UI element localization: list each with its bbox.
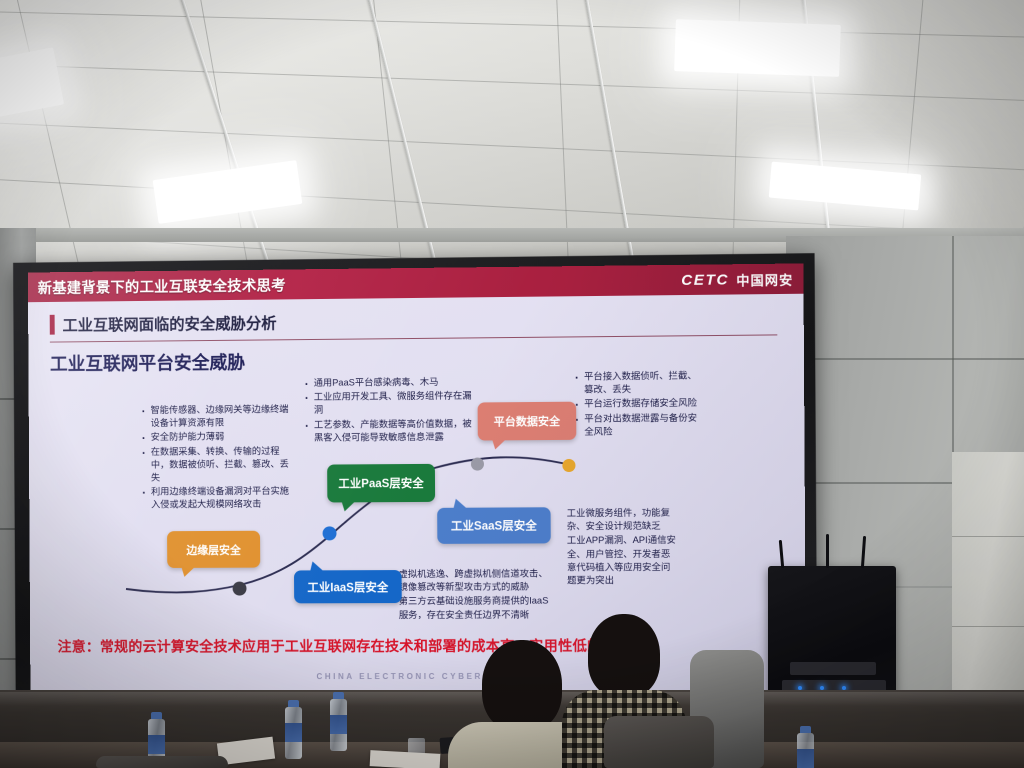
text-block-platform-data-threats: 平台接入数据侦听、拦截、篡改、丢失 平台运行数据存储安全风险 平台对出数据泄露与…: [573, 369, 703, 439]
bullet-item: 安全防护能力薄弱: [151, 430, 295, 444]
callout-label: 边缘层安全: [186, 541, 240, 557]
callout-iaas-security: 工业IaaS层安全: [294, 570, 402, 603]
bullet-item: 第三方云基础设施服务商提供的IaaS服务，存在安全责任边界不清晰: [399, 595, 552, 622]
rack-device: [790, 662, 876, 675]
text-block-iaas-threats: 虚拟机逃逸、跨虚拟机侧信道攻击、镜像篡改等新型攻击方式的威胁 第三方云基础设施服…: [388, 567, 552, 622]
callout-label: 工业PaaS层安全: [338, 475, 424, 492]
person-head: [482, 640, 562, 732]
presentation-screen: 新基建背景下的工业互联安全技术思考 CETC 中国网安 工业互联网面临的安全威胁…: [28, 263, 806, 696]
bullet-item: 平台运行数据存储安全风险: [584, 397, 702, 411]
curve-node-saas: [471, 458, 484, 471]
callout-label: 工业SaaS层安全: [451, 517, 537, 533]
bullet-item: 平台接入数据侦听、拦截、篡改、丢失: [584, 369, 702, 397]
screen-watermark: CHINA ELECTRONIC CYBER: [316, 672, 483, 681]
ceiling-light-panel: [674, 19, 841, 77]
bullet-item: 平台对出数据泄露与备份安全风险: [584, 411, 702, 438]
text-block-paas-threats: 通用PaaS平台感染病毒、木马 工业应用开发工具、微服务组件存在漏洞 工艺参数、…: [303, 375, 479, 445]
text-block-saas-threats: 工业微服务组件，功能复杂、安全设计规范缺乏 工业APP漏洞、API通信安全、用户…: [567, 507, 677, 589]
office-chair-back: [604, 716, 714, 768]
presentation-room-photo: 新基建背景下的工业互联安全技术思考 CETC 中国网安 工业互联网面临的安全威胁…: [0, 0, 1024, 768]
bullet-item: 虚拟机逃逸、跨虚拟机侧信道攻击、镜像篡改等新型攻击方式的威胁: [399, 567, 552, 594]
callout-edge-security: 边缘层安全: [167, 531, 260, 568]
office-chair-back: [96, 756, 228, 768]
bullet-item: 通用PaaS平台感染病毒、木马: [314, 375, 479, 390]
callout-paas-security: 工业PaaS层安全: [327, 464, 435, 503]
curve-node-edge: [233, 582, 247, 596]
paper-document: [370, 750, 441, 768]
bullet-item: 工业应用开发工具、微服务组件存在漏洞: [314, 390, 479, 418]
text-block-edge-threats: 智能传感器、边缘网关等边缘终端设备计算资源有限 安全防护能力薄弱 在数据采集、转…: [140, 403, 295, 513]
bullet-item: 工业微服务组件，功能复杂、安全设计规范缺乏: [567, 507, 676, 534]
water-bottle: [285, 700, 302, 759]
curve-node-iaas: [323, 526, 337, 540]
water-bottle: [797, 726, 814, 768]
bullet-item: 在数据采集、转换、传输的过程中，数据被侦听、拦截、篡改、丢失: [151, 444, 295, 484]
callout-label: 工业IaaS层安全: [307, 579, 388, 595]
bullet-item: 工艺参数、产能数据等高价值数据，被黑客入侵可能导致敏感信息泄露: [314, 417, 479, 445]
bullet-item: 智能传感器、边缘网关等边缘终端设备计算资源有限: [151, 403, 295, 430]
curve-node-data: [562, 459, 575, 472]
callout-platform-data-security: 平台数据安全: [478, 402, 577, 441]
water-bottle: [330, 692, 347, 751]
person-head: [588, 614, 660, 698]
bullet-item: 工业APP漏洞、API通信安全、用户管控、开发者恶意代码植入等应用安全问题更为突…: [567, 534, 676, 587]
bullet-item: 利用边缘终端设备漏洞对平台实施入侵或发起大规模网络攻击: [151, 485, 295, 512]
callout-label: 平台数据安全: [494, 413, 560, 430]
callout-saas-security: 工业SaaS层安全: [437, 507, 551, 544]
antenna: [826, 534, 829, 568]
